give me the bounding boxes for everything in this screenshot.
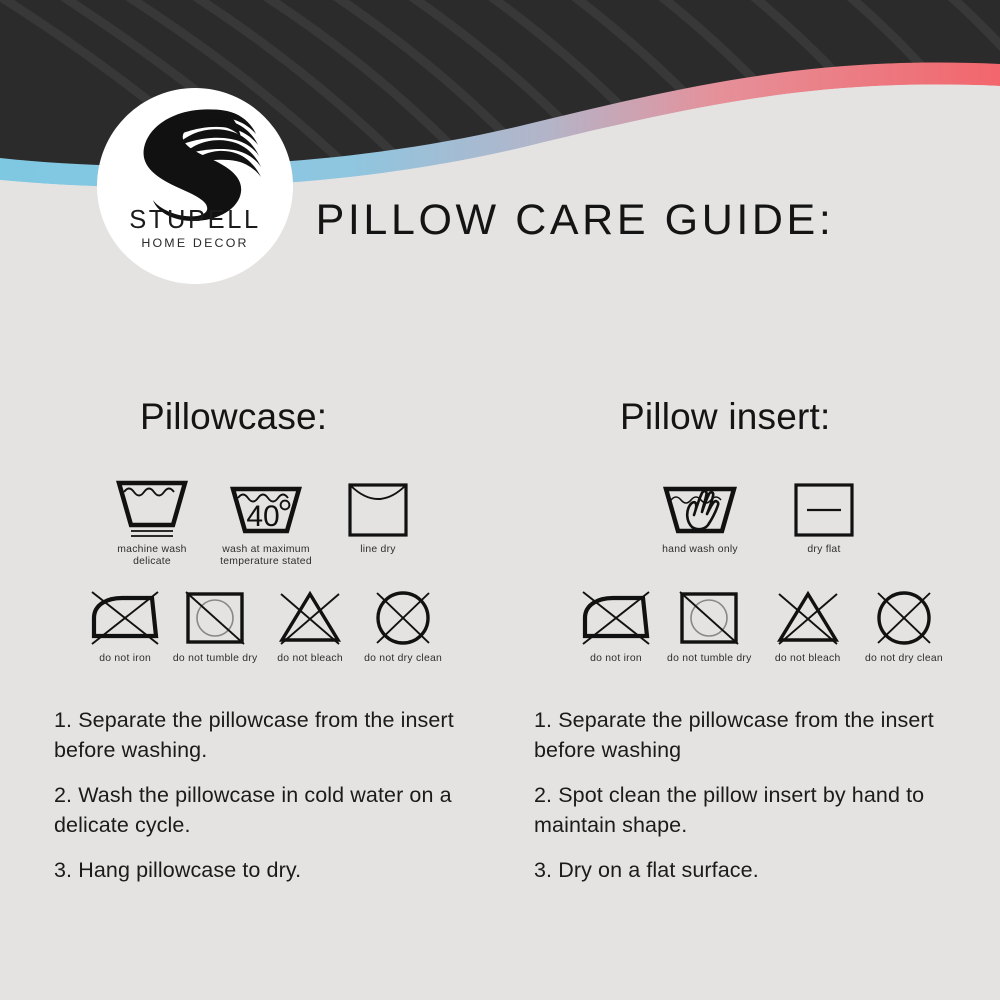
caption-do-not-bleach-2: do not bleach (775, 653, 841, 665)
heading-pillow-insert: Pillow insert: (620, 396, 830, 438)
caption-wash-40-degrees: wash at maximum temperature stated (220, 544, 312, 569)
instructions-pillow-insert: 1. Separate the pillowcase from the inse… (534, 705, 964, 900)
pillowcase-icon-row-1: machine wash delicate 40 wash at maximum… (104, 477, 424, 569)
hand-wash-only-icon (660, 481, 740, 539)
do-not-tumble-dry-icon (676, 588, 742, 648)
caption-do-not-iron-2: do not iron (590, 653, 642, 665)
caption-line-dry: line dry (360, 544, 396, 556)
icon-cell-do-not-tumble-dry-2: do not tumble dry (657, 586, 761, 665)
caption-machine-wash-delicate: machine wash delicate (117, 544, 186, 569)
caption-do-not-tumble-dry-2: do not tumble dry (667, 653, 752, 665)
instruction-item: 3. Hang pillowcase to dry. (54, 855, 484, 885)
caption-hand-wash-only: hand wash only (662, 544, 738, 556)
pillow-insert-icon-row-1: hand wash only dry flat (650, 477, 870, 556)
do-not-dry-clean-icon (371, 588, 435, 648)
do-not-tumble-dry-icon (182, 588, 248, 648)
instruction-item: 3. Dry on a flat surface. (534, 855, 964, 885)
icon-cell-do-not-iron-2: do not iron (576, 586, 656, 665)
do-not-dry-clean-icon (872, 588, 936, 648)
line-dry-icon (346, 481, 410, 539)
icon-cell-do-not-dry-clean-2: do not dry clean (854, 586, 954, 665)
caption-do-not-bleach: do not bleach (277, 653, 343, 665)
do-not-iron-icon (88, 588, 162, 648)
do-not-bleach-icon (773, 588, 843, 648)
icon-cell-do-not-bleach-2: do not bleach (763, 586, 853, 665)
icon-cell-hand-wash-only: hand wash only (650, 477, 750, 556)
icon-cell-wash-40-degrees: 40 wash at maximum temperature stated (206, 477, 326, 569)
machine-wash-delicate-icon (115, 477, 189, 539)
icon-cell-machine-wash-delicate: machine wash delicate (104, 477, 200, 569)
do-not-bleach-icon (275, 588, 345, 648)
icon-cell-do-not-bleach: do not bleach (266, 586, 354, 665)
icon-cell-do-not-dry-clean: do not dry clean (354, 586, 452, 665)
pillowcase-icon-row-2: do not iron do not tumble dry do not (86, 586, 452, 665)
caption-dry-flat: dry flat (807, 544, 840, 556)
svg-text:40: 40 (246, 500, 279, 533)
pillow-care-guide-page: STUPELL HOME DECOR PILLOW CARE GUIDE: Pi… (0, 0, 1000, 1000)
instruction-item: 2. Wash the pillowcase in cold water on … (54, 780, 484, 840)
instruction-item: 1. Separate the pillowcase from the inse… (54, 705, 484, 765)
wash-40-degrees-icon: 40 (229, 483, 303, 539)
icon-cell-line-dry: line dry (332, 477, 424, 569)
do-not-iron-icon (579, 588, 653, 648)
pillow-insert-icon-row-2: do not iron do not tumble dry do not (576, 586, 954, 665)
icon-cell-do-not-tumble-dry: do not tumble dry (164, 586, 266, 665)
logo-badge: STUPELL HOME DECOR (97, 88, 293, 284)
instruction-item: 1. Separate the pillowcase from the inse… (534, 705, 964, 765)
caption-do-not-dry-clean: do not dry clean (364, 653, 442, 665)
icon-cell-do-not-iron: do not iron (86, 586, 164, 665)
caption-do-not-dry-clean-2: do not dry clean (865, 653, 943, 665)
icon-cell-dry-flat: dry flat (778, 477, 870, 556)
caption-do-not-iron: do not iron (99, 653, 151, 665)
dry-flat-icon (792, 481, 856, 539)
instructions-pillowcase: 1. Separate the pillowcase from the inse… (54, 705, 484, 900)
heading-pillowcase: Pillowcase: (140, 396, 327, 438)
page-title: PILLOW CARE GUIDE: (0, 196, 1000, 245)
caption-do-not-tumble-dry: do not tumble dry (173, 653, 258, 665)
instruction-item: 2. Spot clean the pillow insert by hand … (534, 780, 964, 840)
